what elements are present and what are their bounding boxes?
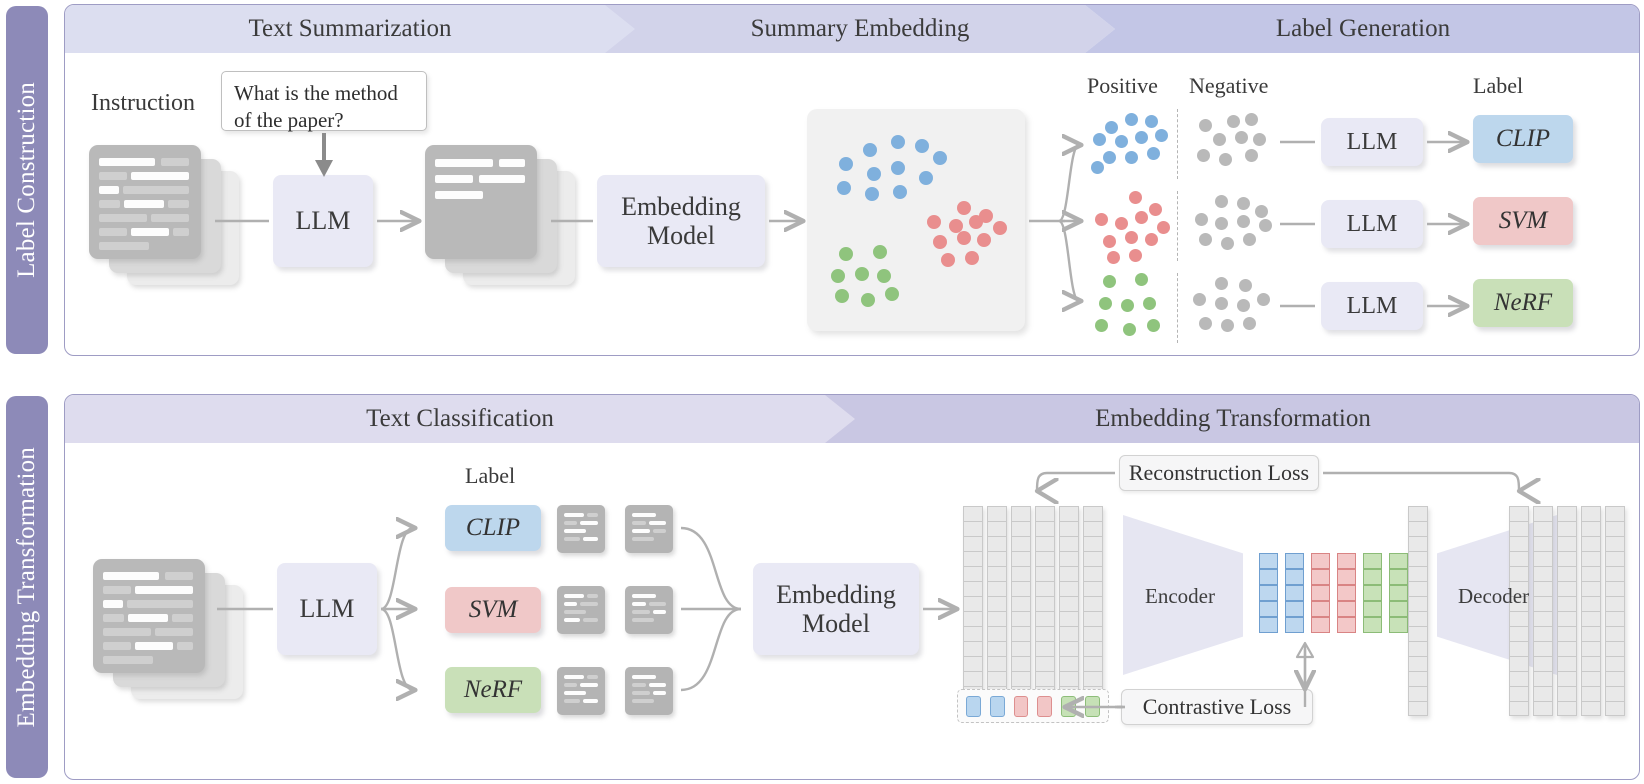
mini-document-icon [557, 586, 605, 634]
cluster-dot [1243, 233, 1256, 246]
cluster-dot [1125, 231, 1138, 244]
encoder-label: Encoder [1145, 584, 1215, 609]
llm-box-classification[interactable]: LLM [277, 563, 377, 655]
scatter-dot [915, 139, 929, 153]
mini-document-icon [625, 505, 673, 553]
scatter-dot [977, 233, 991, 247]
cluster-dot [1147, 319, 1160, 332]
scatter-dot [919, 171, 933, 185]
rail-label-construction-text: Label Construction [13, 82, 41, 278]
scatter-dot [839, 247, 853, 261]
reconstruction-loss-label: Reconstruction Loss [1129, 460, 1309, 486]
embedding-model-box-top[interactable]: EmbeddingModel [597, 175, 765, 267]
separator-row-3 [1177, 273, 1178, 343]
mini-document-icon [557, 667, 605, 715]
embedding-model-box-bottom[interactable]: EmbeddingModel [753, 563, 919, 655]
instruction-callout-text: What is the method of the paper? [234, 81, 398, 132]
swatch-red [1037, 696, 1052, 717]
cluster-dot [1199, 119, 1212, 132]
scatter-dot [877, 269, 891, 283]
decoder-label: Decoder [1458, 584, 1529, 609]
cluster-dot [1195, 213, 1208, 226]
cluster-dot [1143, 297, 1156, 310]
llm-box-row-clip[interactable]: LLM [1321, 118, 1423, 166]
negative-cluster-svm [1193, 193, 1273, 257]
scatter-dot [837, 181, 851, 195]
scatter-dot [893, 185, 907, 199]
embedding-column-input [1083, 506, 1103, 716]
label-chip-svm-bottom[interactable]: SVM [445, 587, 541, 633]
cluster-dot [1245, 149, 1258, 162]
embedding-column-output [1605, 506, 1625, 716]
banner-segment-2: Summary Embedding [605, 5, 1115, 53]
swatch-blue [966, 696, 981, 717]
cluster-dot [1105, 121, 1118, 134]
column-header-positive: Positive [1087, 73, 1158, 99]
cluster-dot [1145, 233, 1158, 246]
cluster-dot [1125, 113, 1138, 126]
positive-cluster-clip [1091, 109, 1171, 175]
cluster-dot [1237, 215, 1250, 228]
embedding-column-input [963, 506, 983, 716]
cluster-dot [1235, 131, 1248, 144]
swatch-green [1061, 696, 1076, 717]
cluster-dot [1125, 151, 1138, 164]
banner-segment-1: Text Summarization [65, 5, 635, 53]
cluster-dot [1219, 153, 1232, 166]
rail-embedding-transformation: Embedding Transformation [6, 396, 48, 778]
instruction-label: Instruction [91, 90, 195, 117]
cluster-dot [1199, 233, 1212, 246]
cluster-dot [1255, 205, 1268, 218]
scatter-dot [891, 161, 905, 175]
cluster-dot [1215, 195, 1228, 208]
column-header-negative: Negative [1189, 73, 1268, 99]
embedding-column-output [1509, 506, 1529, 716]
scatter-dot [867, 167, 881, 181]
cluster-dot [1155, 129, 1168, 142]
negative-cluster-clip [1195, 111, 1271, 173]
separator-row-2 [1177, 191, 1178, 261]
cluster-dot [1135, 273, 1148, 286]
cluster-dot [1129, 191, 1142, 204]
cluster-dot [1147, 147, 1160, 160]
cluster-dot [1197, 149, 1210, 162]
positive-cluster-svm [1091, 191, 1171, 261]
cluster-dot [1121, 299, 1134, 312]
embedding-column-input [1035, 506, 1055, 716]
scatter-dot [839, 157, 853, 171]
label-chip-nerf-bottom-text: NeRF [464, 676, 522, 704]
instruction-callout: What is the method of the paper? [221, 71, 427, 131]
scatter-dot [933, 151, 947, 165]
cluster-dot [1237, 197, 1250, 210]
label-chip-clip[interactable]: CLIP [1473, 115, 1573, 163]
llm-box-summarization[interactable]: LLM [273, 175, 373, 267]
scatter-dot [855, 267, 869, 281]
swatch-green [1085, 696, 1100, 717]
rail-label-construction: Label Construction [6, 6, 48, 354]
embedding-column-output [1533, 506, 1553, 716]
cluster-dot [1149, 203, 1162, 216]
label-chip-svm[interactable]: SVM [1473, 197, 1573, 245]
cluster-dot [1243, 317, 1256, 330]
label-chip-svm-bottom-text: SVM [469, 596, 518, 624]
cluster-dot [1245, 113, 1258, 126]
label-chip-svm-text: SVM [1499, 207, 1548, 235]
cluster-dot [1135, 211, 1148, 224]
bottom-banner: Text Classification Embedding Transforma… [65, 395, 1639, 443]
banner-title-text-classification: Text Classification [366, 405, 554, 433]
cluster-dot [1129, 249, 1142, 262]
document-stack-summaries [425, 145, 587, 285]
embedding-column-input [1059, 506, 1079, 716]
cluster-dot [1095, 319, 1108, 332]
banner-title-label-generation: Label Generation [1276, 15, 1450, 43]
column-header-label: Label [1473, 73, 1523, 99]
cluster-dot [1115, 135, 1128, 148]
scatter-dot [873, 245, 887, 259]
cluster-dot [1215, 277, 1228, 290]
embedding-column-output [1581, 506, 1601, 716]
embedding-column-output [1557, 506, 1577, 716]
label-chip-nerf-bottom[interactable]: NeRF [445, 667, 541, 713]
cluster-dot [1213, 133, 1226, 146]
cluster-dot [1103, 151, 1116, 164]
cluster-dot [1227, 115, 1240, 128]
latent-column-red [1311, 553, 1330, 633]
llm-box-classification-label: LLM [300, 594, 355, 623]
label-chip-clip-text: CLIP [1496, 125, 1550, 153]
llm-box-row-svm[interactable]: LLM [1321, 200, 1423, 248]
cluster-dot [1215, 217, 1228, 230]
cluster-dot [1257, 293, 1270, 306]
cluster-dot [1115, 217, 1128, 230]
embedding-scatter-plot [807, 109, 1025, 331]
cluster-dot [1107, 251, 1120, 264]
document-stack-input [89, 145, 251, 285]
panel-embedding-transformation: Text Classification Embedding Transforma… [64, 394, 1640, 780]
scatter-dot [885, 287, 899, 301]
scatter-dot [865, 187, 879, 201]
cluster-dot [1093, 133, 1106, 146]
cluster-dot [1157, 221, 1170, 234]
label-chip-clip-bottom[interactable]: CLIP [445, 505, 541, 551]
cluster-dot [1215, 297, 1228, 310]
mini-document-icon [557, 505, 605, 553]
cluster-dot [1221, 319, 1234, 332]
mini-document-icon [625, 667, 673, 715]
cluster-dot [1221, 237, 1234, 250]
scatter-dot [861, 293, 875, 307]
cluster-dot [1253, 133, 1266, 146]
banner-segment-text-classification: Text Classification [65, 395, 855, 443]
scatter-dot [835, 289, 849, 303]
cluster-dot [1145, 115, 1158, 128]
embedding-column-input [987, 506, 1007, 716]
llm-box-row-clip-label: LLM [1347, 129, 1398, 156]
label-chip-nerf[interactable]: NeRF [1473, 279, 1573, 327]
banner-title-embedding-transformation: Embedding Transformation [1095, 405, 1371, 433]
scatter-dot [831, 269, 845, 283]
label-chip-nerf-text: NeRF [1494, 289, 1552, 317]
llm-box-row-nerf[interactable]: LLM [1321, 282, 1423, 330]
figure-root: Label Construction Embedding Transformat… [0, 0, 1644, 784]
top-banner: Text Summarization Summary Embedding Lab… [65, 5, 1639, 53]
document-stack-classification-input [93, 559, 255, 699]
banner-segment-embedding-transformation: Embedding Transformation [825, 395, 1640, 443]
cluster-dot [1091, 161, 1104, 174]
llm-box-summarization-label: LLM [296, 206, 351, 235]
reconstruction-loss-box: Reconstruction Loss [1119, 455, 1319, 491]
scatter-dot [957, 201, 971, 215]
rail-label-embedding-text: Embedding Transformation [13, 447, 41, 727]
cluster-dot [1123, 323, 1136, 336]
cluster-dot [1103, 275, 1116, 288]
positive-cluster-nerf [1091, 273, 1171, 341]
llm-box-row-svm-label: LLM [1347, 211, 1398, 238]
latent-column-blue [1285, 553, 1304, 633]
scatter-dot [941, 253, 955, 267]
embedding-column-input [1011, 506, 1031, 716]
latent-column-green [1363, 553, 1382, 633]
embedding-model-box-bottom-label: EmbeddingModel [776, 580, 896, 638]
banner-segment-3: Label Generation [1085, 5, 1640, 53]
contrastive-loss-box: Contrastive Loss [1121, 689, 1313, 725]
cluster-dot [1103, 235, 1116, 248]
cluster-dot [1239, 279, 1252, 292]
scatter-dot [933, 235, 947, 249]
contrastive-loss-label: Contrastive Loss [1143, 694, 1292, 720]
latent-column-green [1389, 553, 1408, 633]
cluster-dot [1135, 131, 1148, 144]
llm-box-row-nerf-label: LLM [1347, 293, 1398, 320]
label-chip-clip-bottom-text: CLIP [466, 514, 520, 542]
banner-title-summary-embedding: Summary Embedding [751, 15, 970, 43]
scatter-dot [891, 135, 905, 149]
scatter-dot [993, 221, 1007, 235]
cluster-dot [1095, 213, 1108, 226]
mini-document-icon [625, 586, 673, 634]
scatter-dot [965, 251, 979, 265]
cluster-dot [1259, 219, 1272, 232]
panel-label-construction: Text Summarization Summary Embedding Lab… [64, 4, 1640, 356]
label-column-header: Label [465, 463, 515, 489]
embedding-model-box-top-label: EmbeddingModel [621, 192, 741, 250]
cluster-dot [1099, 297, 1112, 310]
scatter-dot [969, 215, 983, 229]
embedding-column-output [1408, 506, 1428, 716]
cluster-dot [1193, 293, 1206, 306]
scatter-dot [927, 215, 941, 229]
cluster-dot [1199, 317, 1212, 330]
banner-title-text-summarization: Text Summarization [248, 15, 451, 43]
scatter-dot [863, 143, 877, 157]
scatter-dot [957, 231, 971, 245]
swatch-blue [990, 696, 1005, 717]
separator-row-1 [1177, 109, 1178, 179]
swatch-red [1014, 696, 1029, 717]
label-swatch-tray [957, 689, 1109, 723]
latent-column-blue [1259, 553, 1278, 633]
cluster-dot [1237, 299, 1250, 312]
negative-cluster-nerf [1191, 275, 1273, 339]
latent-column-red [1337, 553, 1356, 633]
